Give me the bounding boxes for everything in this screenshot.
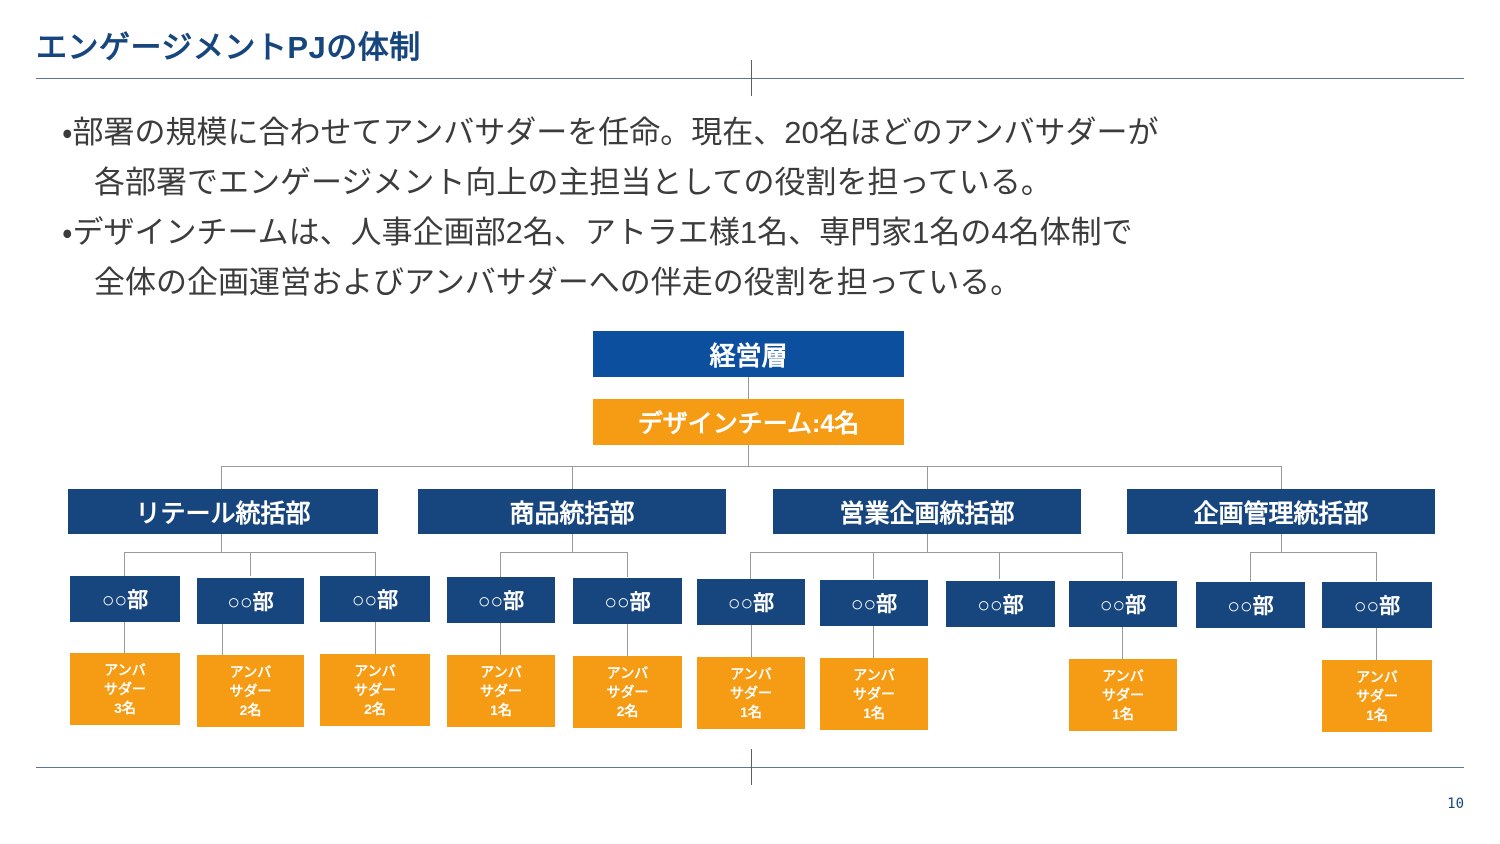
org-node-dept-9[interactable]: ○○部: [1069, 581, 1177, 627]
connector-division-2-dept-2: [627, 552, 628, 577]
org-node-ambassador-7-line-1: アンバ: [853, 666, 894, 685]
org-node-ambassador-9[interactable]: アンバ サダー 1名: [1322, 660, 1432, 732]
org-node-dept-11[interactable]: ○○部: [1322, 582, 1432, 628]
org-node-division-planning-mgmt[interactable]: 企画管理統括部: [1127, 489, 1435, 534]
bullet-2-line-1: ・デザインチームは、人事企画部2名、アトラエ様1名、専門家1名の4名体制で: [62, 208, 1462, 258]
org-node-ambassador-1-line-2: サダー: [104, 680, 146, 699]
org-node-ambassador-9-line-1: アンバ: [1356, 668, 1397, 687]
org-node-ambassador-7[interactable]: アンバ サダー 1名: [820, 658, 928, 730]
connector-division-3-drop: [927, 534, 928, 553]
org-node-exec-label: 経営層: [709, 336, 787, 373]
connector-division-3-dept-2: [873, 552, 874, 579]
connector-division-3-bus: [750, 552, 1123, 553]
org-node-dept-7-label: ○○部: [851, 588, 897, 618]
org-node-ambassador-2-line-1: アンバ: [230, 663, 271, 682]
connector-division-4-bus: [1250, 552, 1377, 553]
connector-division-2-bus: [500, 552, 628, 553]
org-node-dept-1[interactable]: ○○部: [70, 576, 180, 622]
connector-division-4-drop: [1281, 534, 1282, 553]
org-node-ambassador-1-line-1: アンバ: [104, 661, 145, 680]
org-node-ambassador-2[interactable]: アンバ サダー 2名: [197, 655, 304, 727]
connector-division-1-dept-2: [250, 552, 251, 576]
connector-division-4-dept-1: [1250, 552, 1251, 581]
org-node-ambassador-1[interactable]: アンバ サダー 3名: [70, 653, 180, 725]
org-node-ambassador-6-line-2: サダー: [730, 684, 772, 703]
connector-bus-division-2: [572, 466, 573, 489]
connector-dept-4-ambassador: [500, 623, 501, 655]
connector-division-1-dept-3: [375, 552, 376, 576]
org-node-dept-8-label: ○○部: [977, 589, 1023, 619]
org-node-dept-2-label: ○○部: [227, 586, 273, 616]
org-node-ambassador-8[interactable]: アンバ サダー 1名: [1069, 659, 1177, 731]
org-node-ambassador-6[interactable]: アンバ サダー 1名: [697, 657, 805, 729]
org-node-ambassador-6-line-1: アンバ: [730, 665, 771, 684]
connector-divisions-bus: [221, 466, 1281, 467]
org-node-dept-11-label: ○○部: [1354, 590, 1400, 620]
connector-division-3-dept-3: [999, 552, 1000, 579]
org-node-ambassador-8-count: 1名: [1112, 705, 1134, 724]
org-node-ambassador-5[interactable]: アンバ サダー 2名: [573, 656, 682, 728]
org-node-dept-10-label: ○○部: [1227, 590, 1273, 620]
org-node-exec[interactable]: 経営層: [593, 331, 904, 377]
connector-division-1-bus: [124, 552, 375, 553]
connector-dept-7-ambassador: [873, 626, 874, 658]
org-node-ambassador-5-line-1: アンバ: [607, 664, 648, 683]
org-node-ambassador-1-count: 3名: [114, 699, 136, 718]
org-node-dept-4-label: ○○部: [478, 585, 524, 615]
org-node-dept-6-label: ○○部: [728, 587, 774, 617]
org-node-ambassador-8-line-2: サダー: [1102, 686, 1144, 705]
org-node-ambassador-5-line-2: サダー: [607, 683, 649, 702]
connector-dept-1-ambassador: [124, 622, 125, 653]
org-node-dept-2[interactable]: ○○部: [197, 578, 304, 624]
org-node-ambassador-7-line-2: サダー: [853, 685, 895, 704]
org-node-division-product[interactable]: 商品統括部: [418, 489, 726, 534]
org-node-design-team-label: デザインチーム:4名: [638, 404, 859, 440]
org-node-ambassador-6-count: 1名: [740, 703, 762, 722]
org-node-ambassador-3-line-1: アンバ: [354, 662, 395, 681]
org-node-dept-6[interactable]: ○○部: [697, 579, 805, 625]
org-node-ambassador-2-count: 2名: [240, 701, 262, 720]
org-node-division-sales-planning[interactable]: 営業企画統括部: [773, 489, 1081, 534]
org-node-dept-8[interactable]: ○○部: [946, 581, 1055, 627]
connector-bus-division-4: [1281, 466, 1282, 489]
org-node-ambassador-4[interactable]: アンバ サダー 1名: [447, 655, 555, 727]
header-divider-tick: [751, 60, 752, 96]
org-node-dept-10[interactable]: ○○部: [1196, 582, 1305, 628]
connector-division-3-dept-4: [1122, 552, 1123, 579]
connector-dept-6-ambassador: [751, 625, 752, 657]
connector-dept-3-ambassador: [375, 622, 376, 654]
org-node-dept-4[interactable]: ○○部: [447, 577, 555, 623]
connector-dept-5-ambassador: [627, 624, 628, 656]
connector-division-2-drop: [572, 534, 573, 553]
org-node-dept-9-label: ○○部: [1100, 589, 1146, 619]
org-node-dept-5-label: ○○部: [604, 586, 650, 616]
org-node-ambassador-3-count: 2名: [364, 700, 386, 719]
org-node-ambassador-8-line-1: アンバ: [1102, 667, 1143, 686]
connector-division-4-dept-2: [1376, 552, 1377, 581]
page-title: エンゲージメントPJの体制: [36, 22, 421, 67]
org-node-ambassador-4-line-2: サダー: [480, 682, 522, 701]
bullet-1-line-2: 各部署でエンゲージメント向上の主担当としての役割を担っている。: [62, 158, 1462, 208]
org-node-division-4-label: 企画管理統括部: [1193, 494, 1368, 530]
connector-bus-division-1: [221, 466, 222, 489]
org-node-ambassador-7-count: 1名: [863, 704, 885, 723]
org-node-dept-3-label: ○○部: [352, 584, 398, 614]
bullet-2-line-2: 全体の企画運営およびアンバサダーへの伴走の役割を担っている。: [62, 258, 1462, 308]
org-node-ambassador-4-count: 1名: [490, 701, 512, 720]
org-node-dept-7[interactable]: ○○部: [820, 580, 928, 626]
connector-division-1-dept-1: [124, 552, 125, 576]
connector-division-1-drop: [221, 534, 222, 553]
org-node-division-3-label: 営業企画統括部: [839, 494, 1014, 530]
org-node-ambassador-9-line-2: サダー: [1356, 687, 1398, 706]
connector-exec-design: [748, 377, 749, 399]
org-node-ambassador-3[interactable]: アンバ サダー 2名: [320, 654, 430, 726]
org-node-ambassador-9-count: 1名: [1366, 706, 1388, 725]
bullet-1-line-1: ・部署の規模に合わせてアンバサダーを任命。現在、20名ほどのアンバサダーが: [62, 108, 1462, 158]
org-node-division-1-label: リテール統括部: [135, 494, 310, 530]
connector-design-bus-drop: [748, 445, 749, 467]
bullet-list: ・部署の規模に合わせてアンバサダーを任命。現在、20名ほどのアンバサダーが 各部…: [62, 108, 1462, 308]
org-node-ambassador-5-count: 2名: [617, 702, 639, 721]
footer-divider-tick: [751, 749, 752, 785]
org-node-dept-5[interactable]: ○○部: [573, 578, 682, 624]
connector-bus-division-3: [927, 466, 928, 489]
org-node-design-team[interactable]: デザインチーム:4名: [593, 399, 904, 445]
connector-dept-2-ambassador: [222, 624, 223, 655]
connector-division-3-dept-1: [750, 552, 751, 579]
org-node-dept-1-label: ○○部: [102, 584, 148, 614]
connector-dept-9-ambassador: [1122, 627, 1123, 659]
header-divider: [36, 78, 1464, 79]
org-node-division-retail[interactable]: リテール統括部: [68, 489, 378, 534]
org-node-dept-3[interactable]: ○○部: [320, 576, 430, 622]
org-node-division-2-label: 商品統括部: [509, 494, 634, 530]
connector-dept-11-ambassador: [1376, 628, 1377, 660]
page-number: 10: [1447, 796, 1464, 812]
org-node-ambassador-4-line-1: アンバ: [480, 663, 521, 682]
org-node-ambassador-3-line-2: サダー: [354, 681, 396, 700]
org-node-ambassador-2-line-2: サダー: [230, 682, 272, 701]
footer-divider: [36, 767, 1464, 768]
connector-division-2-dept-1: [500, 552, 501, 577]
